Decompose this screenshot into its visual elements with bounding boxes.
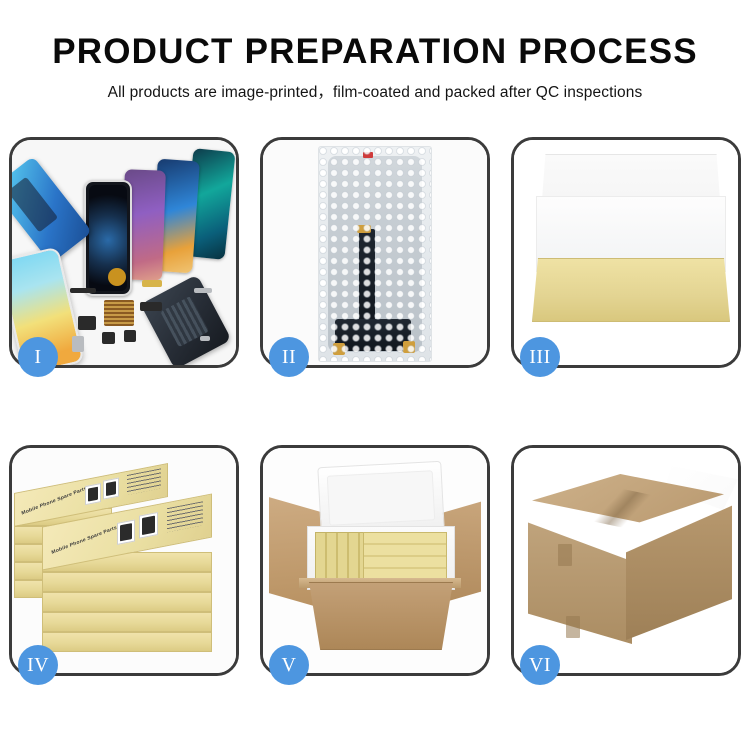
step-badge-3: III (520, 337, 560, 377)
connector-grid-part-icon (104, 300, 134, 326)
carton-tape-lower-icon (566, 616, 580, 638)
process-step-grid: I II (9, 137, 741, 676)
open-box-scene (514, 140, 738, 365)
box-thumb-rear-2 (103, 478, 119, 500)
process-step-panel-4: Mobile Phone Spare Parts Mobile Phone Sp… (9, 445, 239, 676)
box-thumb-front-1 (117, 519, 135, 544)
stacked-box-front-5 (42, 632, 212, 652)
stacked-box-front-3 (42, 592, 212, 612)
step-4-image: Mobile Phone Spare Parts Mobile Phone Sp… (12, 448, 236, 673)
step-6-image (514, 448, 738, 673)
foam-lid-icon (317, 461, 444, 535)
step-5-image (263, 448, 487, 673)
carton-tape-upper-icon (558, 544, 572, 566)
step-badge-2: II (269, 337, 309, 377)
box-stack-scene: Mobile Phone Spare Parts Mobile Phone Sp… (12, 448, 236, 673)
phone-parts-scene (12, 140, 236, 365)
screen-flex-board-icon (335, 319, 411, 351)
process-step-panel-2: II (260, 137, 490, 368)
inner-boxes-stack-icon (363, 532, 447, 582)
gold-connector-left-icon (333, 343, 345, 355)
step-badge-4: IV (18, 645, 58, 685)
camera-module-part-icon (140, 302, 162, 311)
carton-left-face-icon (528, 506, 632, 644)
step-badge-1: I (18, 337, 58, 377)
process-step-panel-1: I (9, 137, 239, 368)
box-label-front: Mobile Phone Spare Parts (51, 525, 117, 556)
bracket-part-icon (78, 316, 96, 330)
page-header: PRODUCT PREPARATION PROCESS All products… (0, 0, 750, 102)
stacked-box-front-2 (42, 572, 212, 592)
step-3-image (514, 140, 738, 365)
speaker-part-icon (108, 268, 126, 286)
process-step-panel-3: III (511, 137, 741, 368)
step-2-image (263, 140, 487, 365)
tool-part-icon (194, 288, 212, 293)
box-thumb-front-2 (139, 512, 158, 539)
vibrator-part-icon (102, 332, 115, 344)
gold-connector-right-icon (403, 341, 415, 353)
carton-open-scene (263, 448, 487, 673)
phone-back-housing-icon (140, 274, 231, 365)
page-subtitle: All products are image-printed，film-coat… (0, 80, 750, 102)
step-badge-6: VI (520, 645, 560, 685)
process-step-panel-5: V (260, 445, 490, 676)
page-title: PRODUCT PREPARATION PROCESS (0, 34, 750, 71)
sim-tray-part-icon (72, 336, 84, 352)
screw-part-icon (200, 336, 210, 341)
step-1-image (12, 140, 236, 365)
carton-front-panel-icon (301, 582, 461, 650)
button-flex-part-icon (142, 280, 162, 287)
flex-cable-part-icon (70, 288, 96, 293)
stacked-box-front-4 (42, 612, 212, 632)
sealed-carton-scene (514, 448, 738, 673)
box-spec-lines-front (167, 501, 203, 532)
step-badge-5: V (269, 645, 309, 685)
gold-connector-top-icon (357, 225, 371, 233)
kraft-box-tray-icon (532, 258, 730, 322)
screen-flex-cable-icon (359, 229, 375, 325)
box-label-rear: Mobile Phone Spare Parts (21, 486, 87, 517)
box-spec-lines-rear (127, 468, 161, 495)
bubble-wrap-scene (263, 140, 487, 365)
process-step-panel-6: VI (511, 445, 741, 676)
chip-part-icon (124, 330, 136, 342)
box-thumb-rear-1 (85, 483, 101, 505)
red-sticker-icon (363, 152, 373, 158)
bubble-wrap-bag-icon (318, 146, 432, 362)
